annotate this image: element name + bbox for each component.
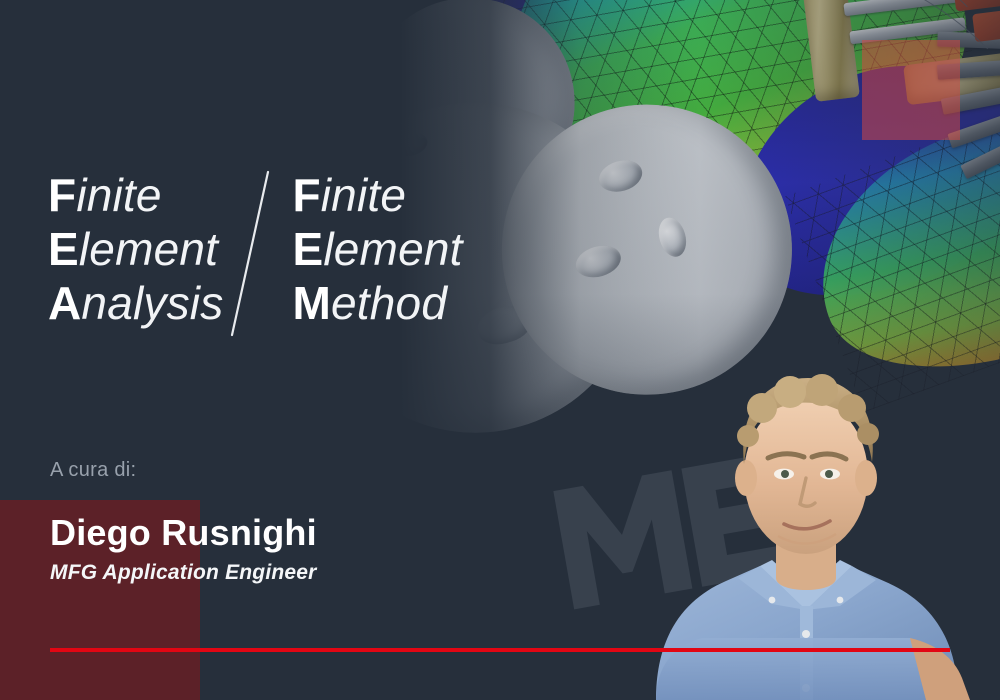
headline-line-method: Method [292,276,462,330]
speaker-name: Diego Rusnighi [50,512,317,554]
portrait-collar-button [769,597,776,604]
headline-line-element-left: Element [48,222,263,276]
credit-prefix: A cura di: [50,459,136,482]
headline-cap-e: E [48,223,79,275]
red-highlight-rectangle [862,40,960,140]
portrait-collar-button [837,597,844,604]
presentation-slide: Finite Element Analysis Finite Element M… [0,0,1000,700]
headline-line-finite-left: Finite [48,168,263,222]
speaker-portrait [610,338,1000,700]
headline-cap-m: M [292,277,331,329]
headline-column-fea: Finite Element Analysis [48,168,263,330]
headline-rest-ethod: ethod [331,277,447,329]
portrait-iris-right [825,470,833,478]
headline-rest-nalysis: nalysis [81,277,223,329]
headline-line-finite-right: Finite [292,168,462,222]
portrait-hair-curl [774,376,806,408]
headline-rest-lement-right: lement [323,223,462,275]
portrait-hair-curl [857,423,879,445]
headline-cap-e-right: E [292,223,323,275]
headline-cap-f-right: F [292,169,320,221]
portrait-shirt-button [802,630,810,638]
speaker-role: MFG Application Engineer [50,561,317,585]
portrait-hair-curl [838,394,866,422]
portrait-ear-right [855,460,877,496]
headline-cap-f: F [48,169,76,221]
portrait-hair-curl [737,425,759,447]
headline-line-analysis: Analysis [48,276,263,330]
portrait-ear-left [735,460,757,496]
headline-rest-lement: lement [79,223,218,275]
headline-rest-inite: inite [76,169,161,221]
headline-line-element-right: Element [292,222,462,276]
headline-rest-inite-right: inite [321,169,406,221]
headline-column-fem: Finite Element Method [292,168,462,330]
headline-block: Finite Element Analysis Finite Element M… [48,168,463,330]
headline-cap-a: A [48,277,81,329]
portrait-hair-curl [747,393,777,423]
portrait-hair-curl [806,374,838,406]
red-accent-rule [50,648,950,652]
portrait-iris-left [781,470,789,478]
